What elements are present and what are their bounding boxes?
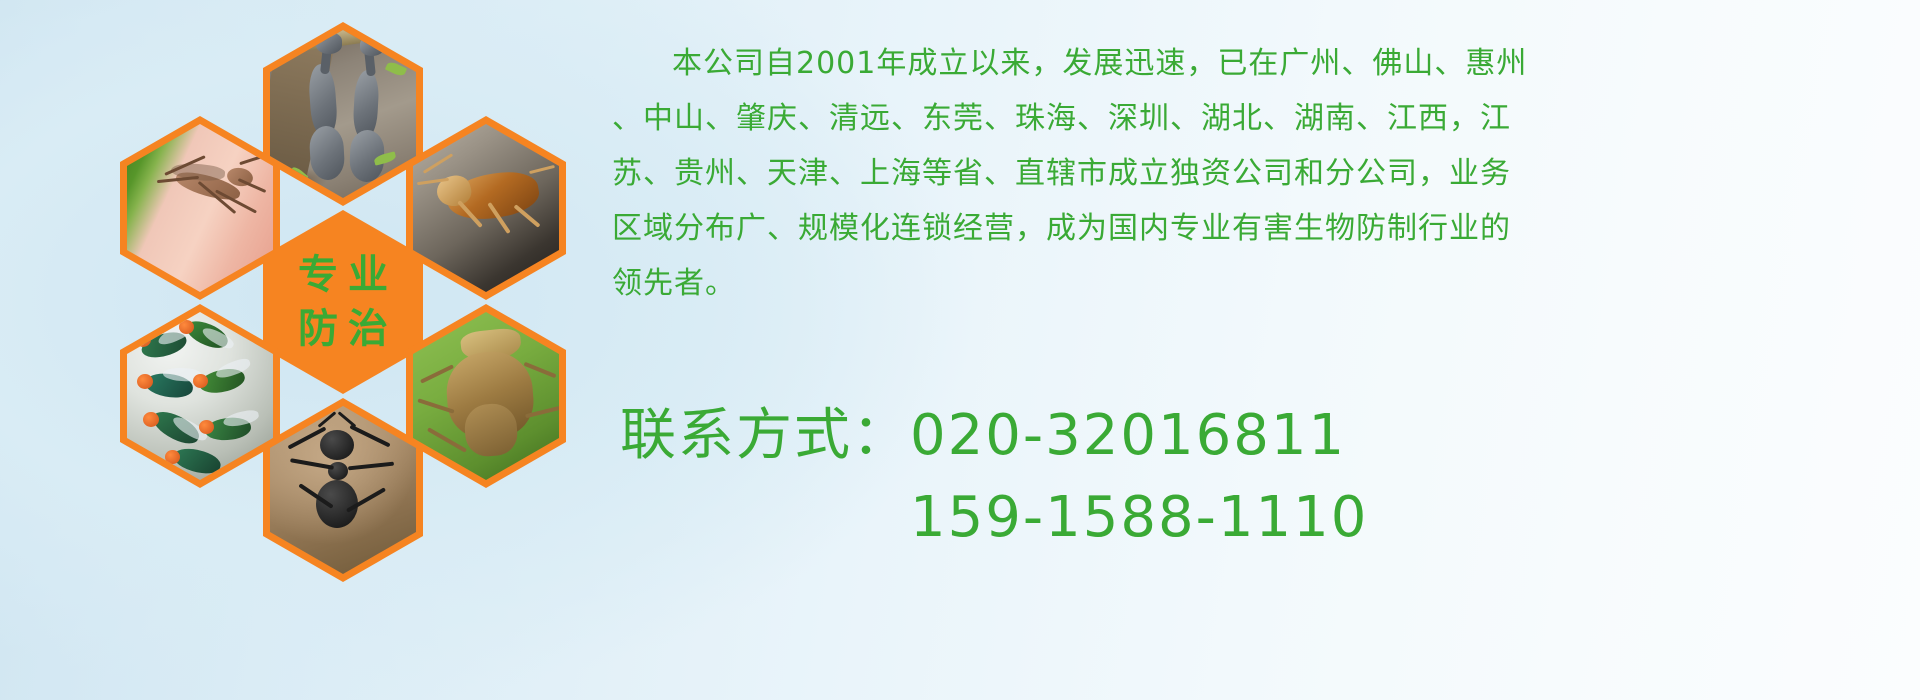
honeycomb-emblem: 专业 防治 bbox=[95, 8, 595, 578]
rats-photo bbox=[270, 30, 416, 198]
contact-phone-mobile[interactable]: 159-1588-1110 bbox=[620, 477, 1910, 559]
flies-photo bbox=[127, 312, 273, 480]
pest-control-banner: 专业 防治 bbox=[0, 0, 1920, 700]
about-line-1: 本公司自2001年成立以来，发展迅速，已在广州、佛山、惠州 bbox=[612, 36, 1882, 91]
stink-bug-photo bbox=[413, 312, 559, 480]
ant-photo bbox=[270, 406, 416, 574]
hex-cell-mosquito bbox=[120, 116, 280, 300]
hex-cell-ant bbox=[263, 398, 423, 582]
contact-block: 联系方式：020-32016811 159-1588-1110 bbox=[620, 395, 1910, 559]
about-line-5: 领先者。 bbox=[612, 256, 1882, 311]
about-line-3: 苏、贵州、天津、上海等省、直辖市成立独资公司和分公司，业务 bbox=[612, 146, 1882, 201]
hex-cell-slogan: 专业 防治 bbox=[263, 210, 423, 394]
hex-cell-stink-bug bbox=[406, 304, 566, 488]
contact-phone-landline[interactable]: 联系方式：020-32016811 bbox=[620, 395, 1910, 477]
cockroach-photo bbox=[413, 124, 559, 292]
slogan-text: 专业 防治 bbox=[270, 218, 416, 386]
about-line-4: 区域分布广、规模化连锁经营，成为国内专业有害生物防制行业的 bbox=[612, 201, 1882, 256]
about-paragraph: 本公司自2001年成立以来，发展迅速，已在广州、佛山、惠州 、中山、肇庆、清远、… bbox=[612, 36, 1882, 311]
hex-cell-cockroach bbox=[406, 116, 566, 300]
slogan-line-2: 防治 bbox=[288, 309, 398, 349]
mosquito-photo bbox=[127, 124, 273, 292]
about-line-2: 、中山、肇庆、清远、东莞、珠海、深圳、湖北、湖南、江西，江 bbox=[612, 91, 1882, 146]
hex-cell-rats bbox=[263, 22, 423, 206]
slogan-line-1: 专业 bbox=[288, 255, 398, 295]
hex-cell-flies bbox=[120, 304, 280, 488]
